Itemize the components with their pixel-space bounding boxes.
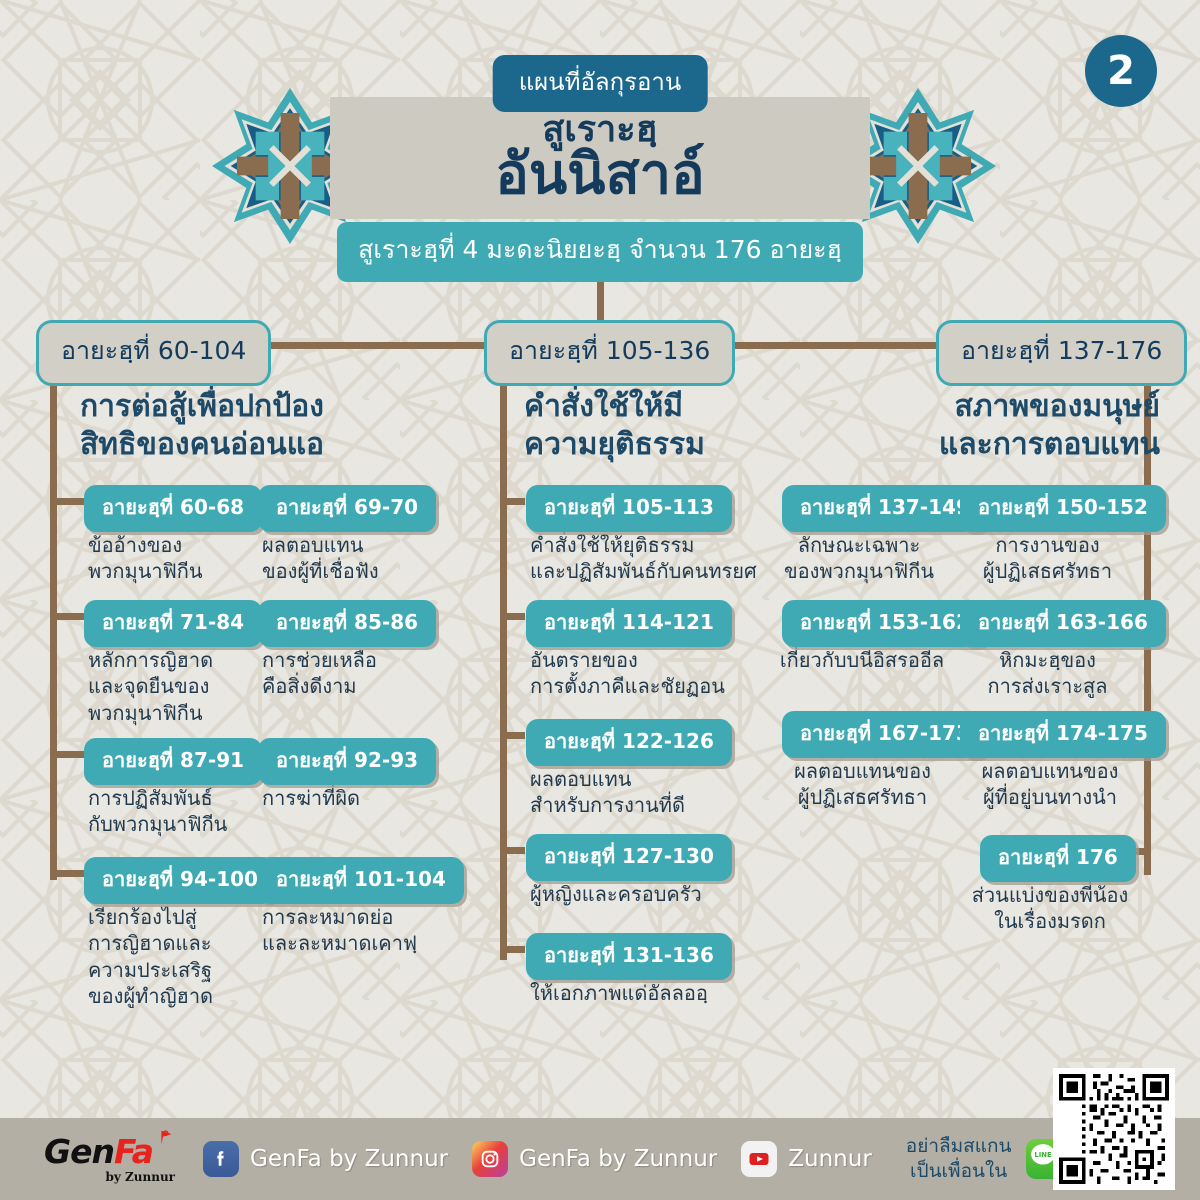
instagram-handle: GenFa by Zunnur xyxy=(519,1146,717,1172)
branch-nub xyxy=(53,870,85,877)
ayah-pill[interactable]: อายะฮฺที่ 176 xyxy=(980,835,1136,882)
ayah-desc: การช่วยเหลือ คือสิ่งดีงาม xyxy=(262,647,432,700)
qr-code xyxy=(1053,1068,1175,1190)
ayah-pill[interactable]: อายะฮฺที่ 94-100 xyxy=(84,857,276,904)
section-header-right[interactable]: อายะฮฺที่ 137-176 xyxy=(936,320,1187,386)
ayah-pill[interactable]: อายะฮฺที่ 87-91 xyxy=(84,738,262,785)
facebook-handle: GenFa by Zunnur xyxy=(250,1146,448,1172)
youtube-icon[interactable] xyxy=(741,1141,777,1177)
ayah-desc: ผลตอบแทน ของผู้ที่เชื่อฟัง xyxy=(262,532,442,585)
ayah-desc: คำสั่งใช้ให้ยุติธรรม และปฏิสัมพันธ์กับคน… xyxy=(530,532,780,585)
ayah-desc: อันตรายของ การตั้งภาคีและชัยฏอน xyxy=(530,647,780,700)
qr-code-image xyxy=(1059,1074,1169,1184)
kicker-label: แผนที่อัลกุรอาน xyxy=(493,55,708,112)
ayah-pill[interactable]: อายะฮฺที่ 167-173 xyxy=(782,711,988,758)
ayah-pill[interactable]: อายะฮฺที่ 114-121 xyxy=(526,600,732,647)
branch-nub xyxy=(503,946,525,953)
surah-subtitle: สูเราะฮฺที่ 4 มะดะนิยยะฮฺ จำนวน 176 อายะ… xyxy=(337,222,863,282)
ayah-desc: เรียกร้องไปสู่ การญิฮาดและ ความประเสริฐ … xyxy=(88,904,248,1010)
ayah-desc: การปฏิสัมพันธ์ กับพวกมุนาฟิกีน xyxy=(88,785,266,838)
section-header-middle[interactable]: อายะฮฺที่ 105-136 xyxy=(484,320,735,386)
ayah-pill[interactable]: อายะฮฺที่ 153-162 xyxy=(782,600,988,647)
branch-nub xyxy=(53,613,85,620)
page-number-badge: 2 xyxy=(1085,35,1157,107)
ayah-pill[interactable]: อายะฮฺที่ 101-104 xyxy=(258,857,464,904)
scan-note: อย่าลืมสแกน เป็นเพื่อนใน xyxy=(906,1134,1012,1183)
social-facebook[interactable]: GenFa by Zunnur xyxy=(203,1141,448,1177)
surah-title-line2: อันนิสาอ์ xyxy=(495,146,704,205)
ayah-pill[interactable]: อายะฮฺที่ 174-175 xyxy=(960,711,1166,758)
branch-nub xyxy=(53,751,85,758)
youtube-handle: Zunnur xyxy=(788,1146,872,1172)
ayah-pill[interactable]: อายะฮฺที่ 163-166 xyxy=(960,600,1166,647)
svg-text:LINE: LINE xyxy=(1034,1151,1052,1159)
brand-sub-text: by Zunnur xyxy=(105,1171,175,1183)
ayah-desc: เกี่ยวกับบนีอิสรออีล xyxy=(762,647,962,673)
ayah-desc: การงานของ ผู้ปฏิเสธศรัทธา xyxy=(960,532,1135,585)
section-header-left[interactable]: อายะฮฺที่ 60-104 xyxy=(36,320,271,386)
ayah-pill[interactable]: อายะฮฺที่ 150-152 xyxy=(960,485,1166,532)
ayah-pill[interactable]: อายะฮฺที่ 92-93 xyxy=(258,738,436,785)
ayah-pill[interactable]: อายะฮฺที่ 85-86 xyxy=(258,600,436,647)
ayah-desc: ผู้หญิงและครอบครัว xyxy=(530,881,780,907)
instagram-icon[interactable] xyxy=(472,1141,508,1177)
flag-icon xyxy=(158,1129,175,1146)
ayah-desc: ข้ออ้างของ พวกมุนาฟิกีน xyxy=(88,532,248,585)
ayah-pill[interactable]: อายะฮฺที่ 71-84 xyxy=(84,600,262,647)
ayah-desc: หิกมะฮฺของ การส่งเราะสูล xyxy=(960,647,1135,700)
facebook-icon[interactable] xyxy=(203,1141,239,1177)
ayah-desc: ผลตอบแทน สำหรับการงานที่ดี xyxy=(530,766,760,819)
ayah-pill[interactable]: อายะฮฺที่ 105-113 xyxy=(526,485,732,532)
branch-nub xyxy=(503,847,525,854)
branch-nub xyxy=(503,732,525,739)
brand-gen-text: Gen xyxy=(44,1132,114,1171)
branch-nub xyxy=(53,498,85,505)
social-youtube[interactable]: Zunnur xyxy=(741,1141,872,1177)
section-title-left: การต่อสู้เพื่อปกป้อง สิทธิของคนอ่อนแอ xyxy=(80,388,420,465)
title-plate: สูเราะฮฺ อันนิสาอ์ xyxy=(330,97,870,219)
ayah-pill[interactable]: อายะฮฺที่ 131-136 xyxy=(526,933,732,980)
social-instagram[interactable]: GenFa by Zunnur xyxy=(472,1141,717,1177)
section-title-middle: คำสั่งใช้ให้มี ความยุติธรรม xyxy=(524,388,824,465)
genfa-logo: GenFa by Zunnur xyxy=(44,1131,179,1187)
branch-nub xyxy=(503,498,525,505)
branch-nub xyxy=(503,613,525,620)
ayah-desc: หลักการญิฮาด และจุดยืนของ พวกมุนาฟิกีน xyxy=(88,647,256,726)
footer-bar: GenFa by Zunnur GenFa by Zunnur xyxy=(0,1118,1200,1200)
ayah-desc: ส่วนแบ่งของพี่น้อง ในเรื่องมรดก xyxy=(945,882,1155,935)
ayah-desc: การละหมาดย่อ และละหมาดเคาฟฺ xyxy=(262,904,452,957)
ayah-pill[interactable]: อายะฮฺที่ 137-149 xyxy=(782,485,988,532)
ayah-desc: ผลตอบแทนของ ผู้ปฏิเสธศรัทธา xyxy=(765,758,960,811)
section-title-right: สภาพของมนุษย์ และการตอบแทน xyxy=(870,388,1160,465)
ayah-desc: การฆ่าที่ผิด xyxy=(262,785,442,811)
ayah-desc: ให้เอกภาพแด่อัลลออฺ xyxy=(530,980,780,1006)
ayah-pill[interactable]: อายะฮฺที่ 122-126 xyxy=(526,719,732,766)
ayah-desc: ผลตอบแทนของ ผู้ที่อยู่บนทางนำ xyxy=(955,758,1145,811)
ayah-desc: ลักษณะเฉพาะ ของพวกมุนาฟิกีน xyxy=(770,532,948,585)
ayah-pill[interactable]: อายะฮฺที่ 127-130 xyxy=(526,834,732,881)
ayah-pill[interactable]: อายะฮฺที่ 69-70 xyxy=(258,485,436,532)
brand-fa-text: Fa xyxy=(114,1132,153,1171)
ayah-pill[interactable]: อายะฮฺที่ 60-68 xyxy=(84,485,262,532)
spine-column-middle xyxy=(500,345,507,960)
